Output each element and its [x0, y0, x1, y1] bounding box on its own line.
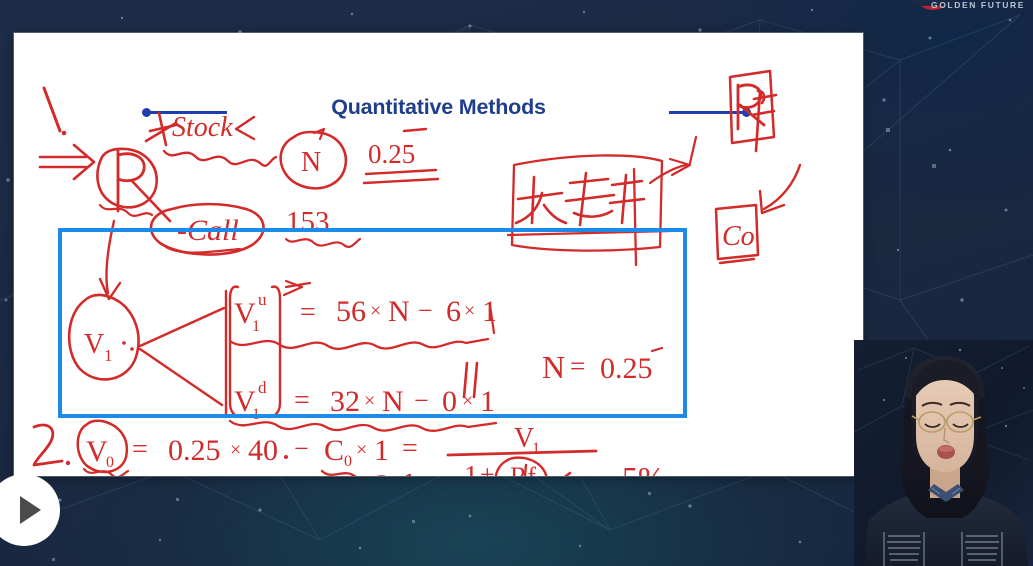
svg-text:−: − [294, 434, 309, 463]
svg-text:=: = [132, 434, 148, 465]
annotation-rate: 5% [554, 460, 688, 476]
svg-text:0.25: 0.25 [168, 434, 221, 467]
svg-text:0.25: 0.25 [368, 139, 415, 169]
annotation-circled-v0: V 0 [78, 421, 128, 476]
svg-text:C: C [324, 434, 344, 467]
annotation-boxed-rf [730, 71, 776, 151]
svg-text:+: + [480, 460, 495, 476]
annotation-implies-arrow [40, 145, 94, 179]
svg-text:×: × [356, 439, 367, 461]
annotation-fraction: V 1 1 + Rf [448, 423, 596, 476]
presenter-video [854, 340, 1033, 566]
annotation-circled-n: N [281, 129, 346, 188]
svg-text:Co: Co [722, 221, 755, 252]
svg-text:N: N [301, 147, 321, 178]
svg-text:×: × [230, 439, 241, 461]
logo-text: GOLDEN FUTURE [931, 0, 1025, 10]
annotation-step-2 [34, 425, 70, 465]
svg-text:Stock: Stock [172, 112, 233, 143]
svg-text:V: V [86, 435, 108, 468]
svg-text:5%: 5% [622, 460, 665, 476]
annotation-circled-p [97, 149, 156, 216]
presentation-slide: Quantitative Methods Stock [14, 33, 863, 476]
svg-text:40: 40 [248, 434, 278, 467]
annotation-boxed-c0: Co [716, 165, 800, 263]
svg-text:1: 1 [374, 434, 389, 467]
svg-text:0: 0 [344, 453, 352, 470]
svg-text:Rf: Rf [510, 462, 536, 476]
annotation-equation-v0: = 0.25 × 40 − C 0 × 1 = [132, 433, 418, 476]
svg-text:0: 0 [106, 454, 114, 471]
svg-text:1: 1 [532, 440, 540, 457]
annotation-step-1 [44, 88, 66, 135]
highlight-box [58, 228, 687, 418]
annotation-n-value: 0.25 [364, 129, 438, 183]
brand-logo: GOLDEN FUTURE [885, 0, 1027, 16]
svg-text:1: 1 [464, 461, 478, 476]
play-triangle-icon [20, 496, 41, 524]
presenter-portrait [854, 340, 1033, 566]
svg-text:=: = [402, 433, 418, 464]
annotation-plus-stock: Stock [146, 112, 276, 166]
